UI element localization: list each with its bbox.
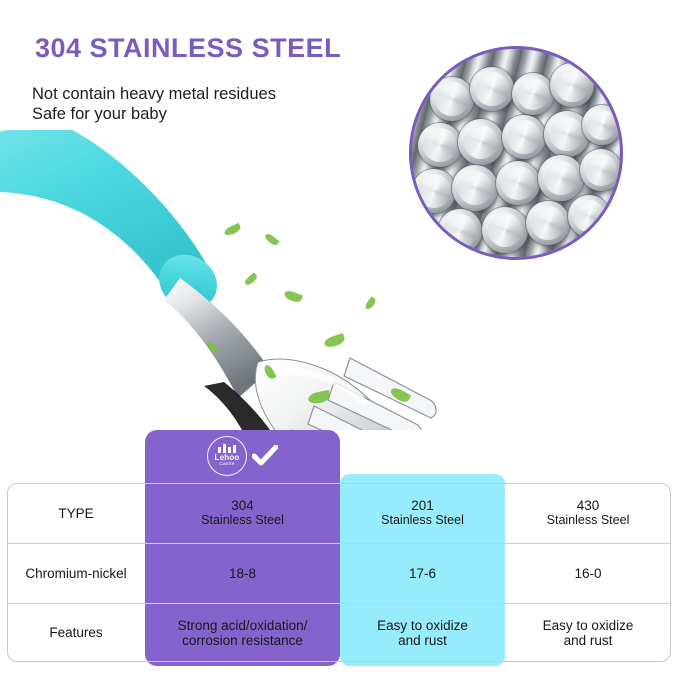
cell-304-features: Strong acid/oxidation/ corrosion resista… [145,603,340,662]
cell-value-top: Strong acid/oxidation/ [178,618,308,633]
cell-304-type: 304 Stainless Steel [145,483,340,543]
cell-value-top: Easy to oxidize [543,618,634,633]
cell-430-chromium: 16-0 [505,543,671,603]
cell-value-bottom: Stainless Steel [201,513,284,528]
castle-icon [218,444,236,453]
cell-430-features: Easy to oxidize and rust [505,603,671,662]
row-label: Chromium-nickel [7,543,145,603]
table-row: TYPE 304 Stainless Steel 201 Stainless S… [7,483,671,543]
comparison-table: TYPE 304 Stainless Steel 201 Stainless S… [0,0,679,679]
brand-name: Lehoo [215,454,240,462]
cell-201-chromium: 17-6 [340,543,505,603]
cell-430-type: 430 Stainless Steel [505,483,671,543]
cell-201-features: Easy to oxidize and rust [340,603,505,662]
brand-sub: Castle [219,463,234,468]
cell-value-top: 201 [411,498,434,513]
cell-value-bottom: Stainless Steel [547,513,630,528]
cell-value-bottom: Stainless Steel [381,513,464,528]
lehoo-castle-logo: Lehoo Castle [207,436,247,476]
product-infographic: 304 STAINLESS STEEL Not contain heavy me… [0,0,679,679]
cell-value-bottom: and rust [377,633,468,648]
table-row: Features Strong acid/oxidation/ corrosio… [7,603,671,662]
cell-201-type: 201 Stainless Steel [340,483,505,543]
row-label: Features [7,603,145,662]
cell-value-top: Easy to oxidize [377,618,468,633]
cell-value-bottom: corrosion resistance [178,633,308,648]
cell-value-bottom: and rust [543,633,634,648]
table-row: Chromium-nickel 18-8 17-6 16-0 [7,543,671,603]
cell-304-chromium: 18-8 [145,543,340,603]
cell-value-top: 430 [577,498,600,513]
checkmark-icon [252,445,278,467]
cell-value-top: 304 [231,498,254,513]
row-label: TYPE [7,483,145,543]
brand-badge-row: Lehoo Castle [145,434,340,478]
